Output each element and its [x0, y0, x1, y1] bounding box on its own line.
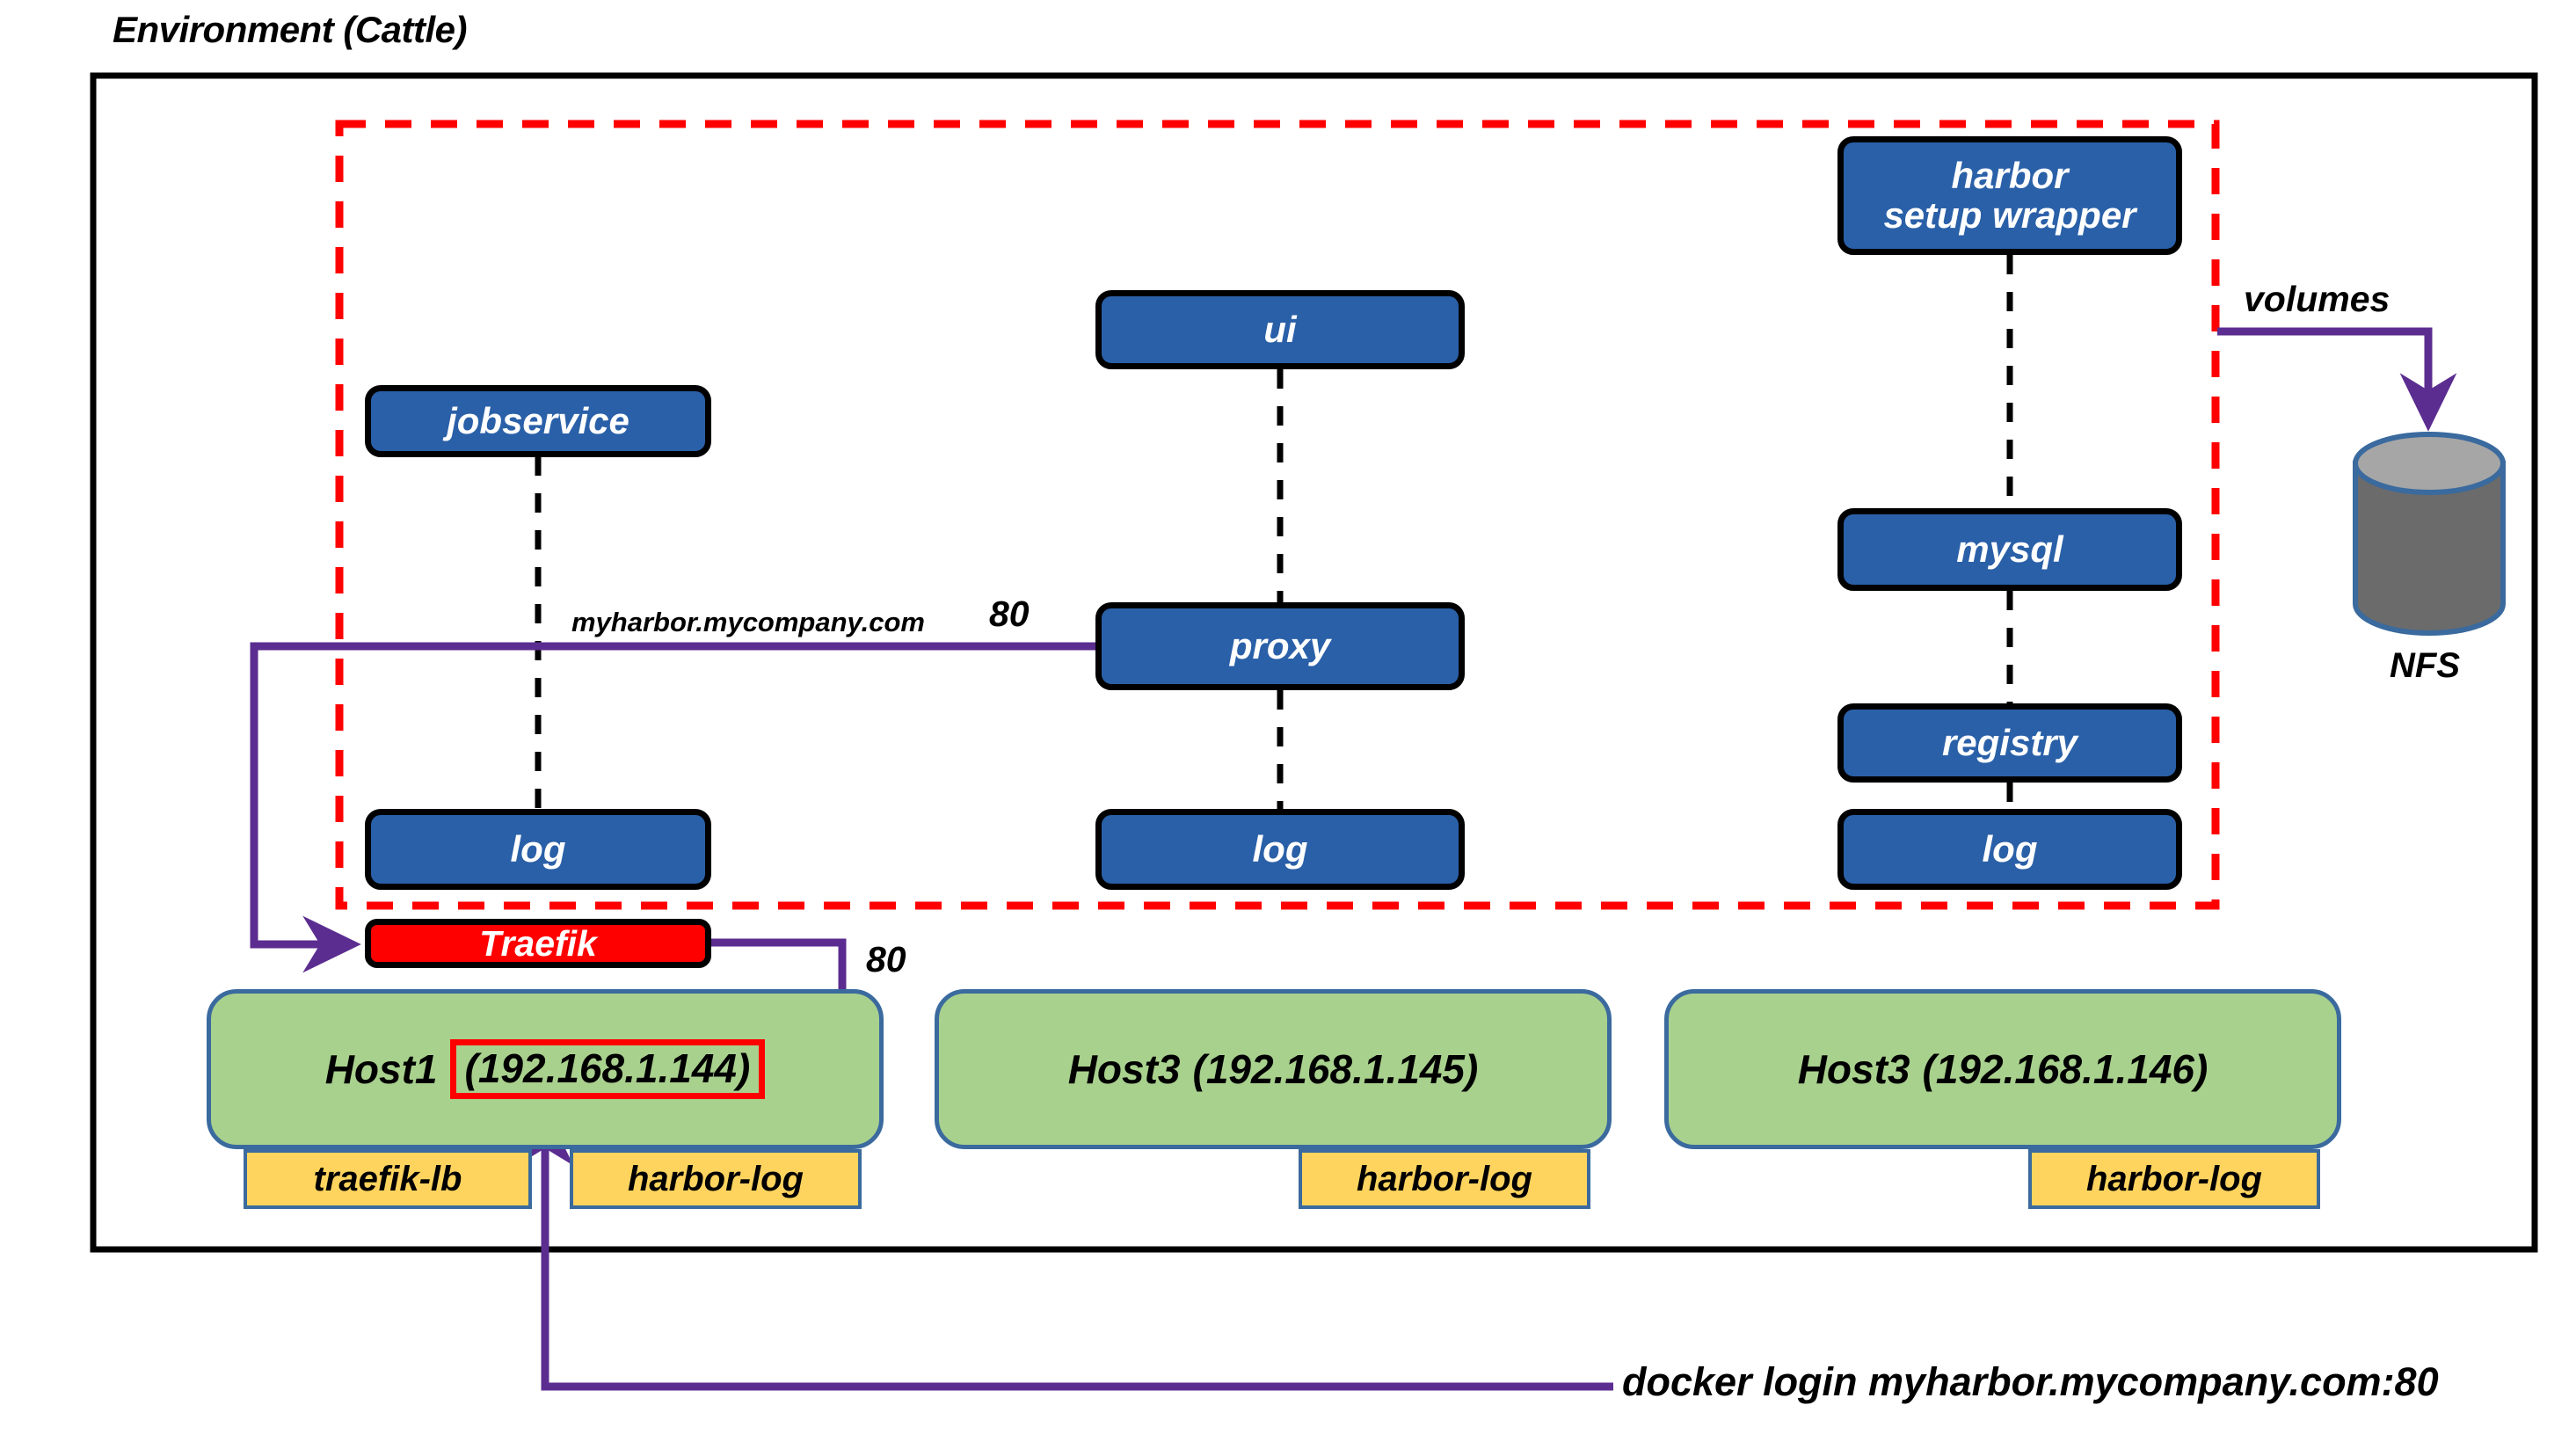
service-box-log-center[interactable]: log — [1095, 809, 1465, 890]
service-box-log-left[interactable]: log — [365, 809, 711, 890]
host-box-3[interactable]: Host3 (192.168.1.146) — [1664, 989, 2341, 1149]
annotation-docker-login: docker login myharbor.mycompany.com:80 — [1622, 1359, 2439, 1405]
host-box-1[interactable]: Host1 (192.168.1.144) — [207, 989, 884, 1149]
diagram-canvas: Environment (Cattle) jobservice log ui p… — [0, 0, 2576, 1449]
service-box-mysql[interactable]: mysql — [1837, 508, 2182, 591]
host-2-name: Host3 — [1068, 1045, 1181, 1093]
annotation-port-traefik: 80 — [866, 939, 906, 980]
service-box-jobservice[interactable]: jobservice — [365, 385, 711, 457]
host-3-ip: (192.168.1.146) — [1923, 1045, 2209, 1093]
service-box-proxy[interactable]: proxy — [1095, 602, 1465, 690]
stack-label-harbor-log-host2[interactable]: harbor-log — [1299, 1149, 1590, 1209]
stack-label-harbor-log-host1[interactable]: harbor-log — [570, 1149, 862, 1209]
host-1-name: Host1 — [325, 1045, 438, 1093]
service-box-registry[interactable]: registry — [1837, 703, 2182, 783]
service-box-harbor-setup-wrapper[interactable]: harbor setup wrapper — [1837, 136, 2182, 255]
host-1-label: Host1 (192.168.1.144) — [325, 1039, 766, 1099]
stack-label-harbor-log-host3[interactable]: harbor-log — [2028, 1149, 2320, 1209]
host-3-label: Host3 (192.168.1.146) — [1798, 1045, 2209, 1093]
host-2-ip: (192.168.1.145) — [1193, 1045, 1479, 1093]
stack-label-traefik-lb[interactable]: traefik-lb — [244, 1149, 532, 1209]
nfs-label: NFS — [2390, 646, 2460, 686]
host-1-ip-highlight: (192.168.1.144) — [450, 1039, 766, 1099]
annotation-port-proxy: 80 — [989, 593, 1030, 635]
host-3-name: Host3 — [1798, 1045, 1910, 1093]
route-volumes-to-nfs — [2217, 331, 2428, 422]
connector-layer — [0, 0, 2576, 1449]
host-box-2[interactable]: Host3 (192.168.1.145) — [935, 989, 1612, 1149]
annotation-domain: myharbor.mycompany.com — [571, 607, 925, 638]
nfs-cylinder-icon — [2355, 434, 2503, 633]
service-box-log-right[interactable]: log — [1837, 809, 2182, 890]
page-title: Environment (Cattle) — [113, 9, 467, 51]
annotation-volumes: volumes — [2244, 279, 2390, 320]
host-2-label: Host3 (192.168.1.145) — [1068, 1045, 1479, 1093]
traefik-box[interactable]: Traefik — [365, 919, 711, 968]
service-box-ui[interactable]: ui — [1095, 290, 1465, 369]
route-proxy-to-traefik — [254, 646, 1095, 944]
